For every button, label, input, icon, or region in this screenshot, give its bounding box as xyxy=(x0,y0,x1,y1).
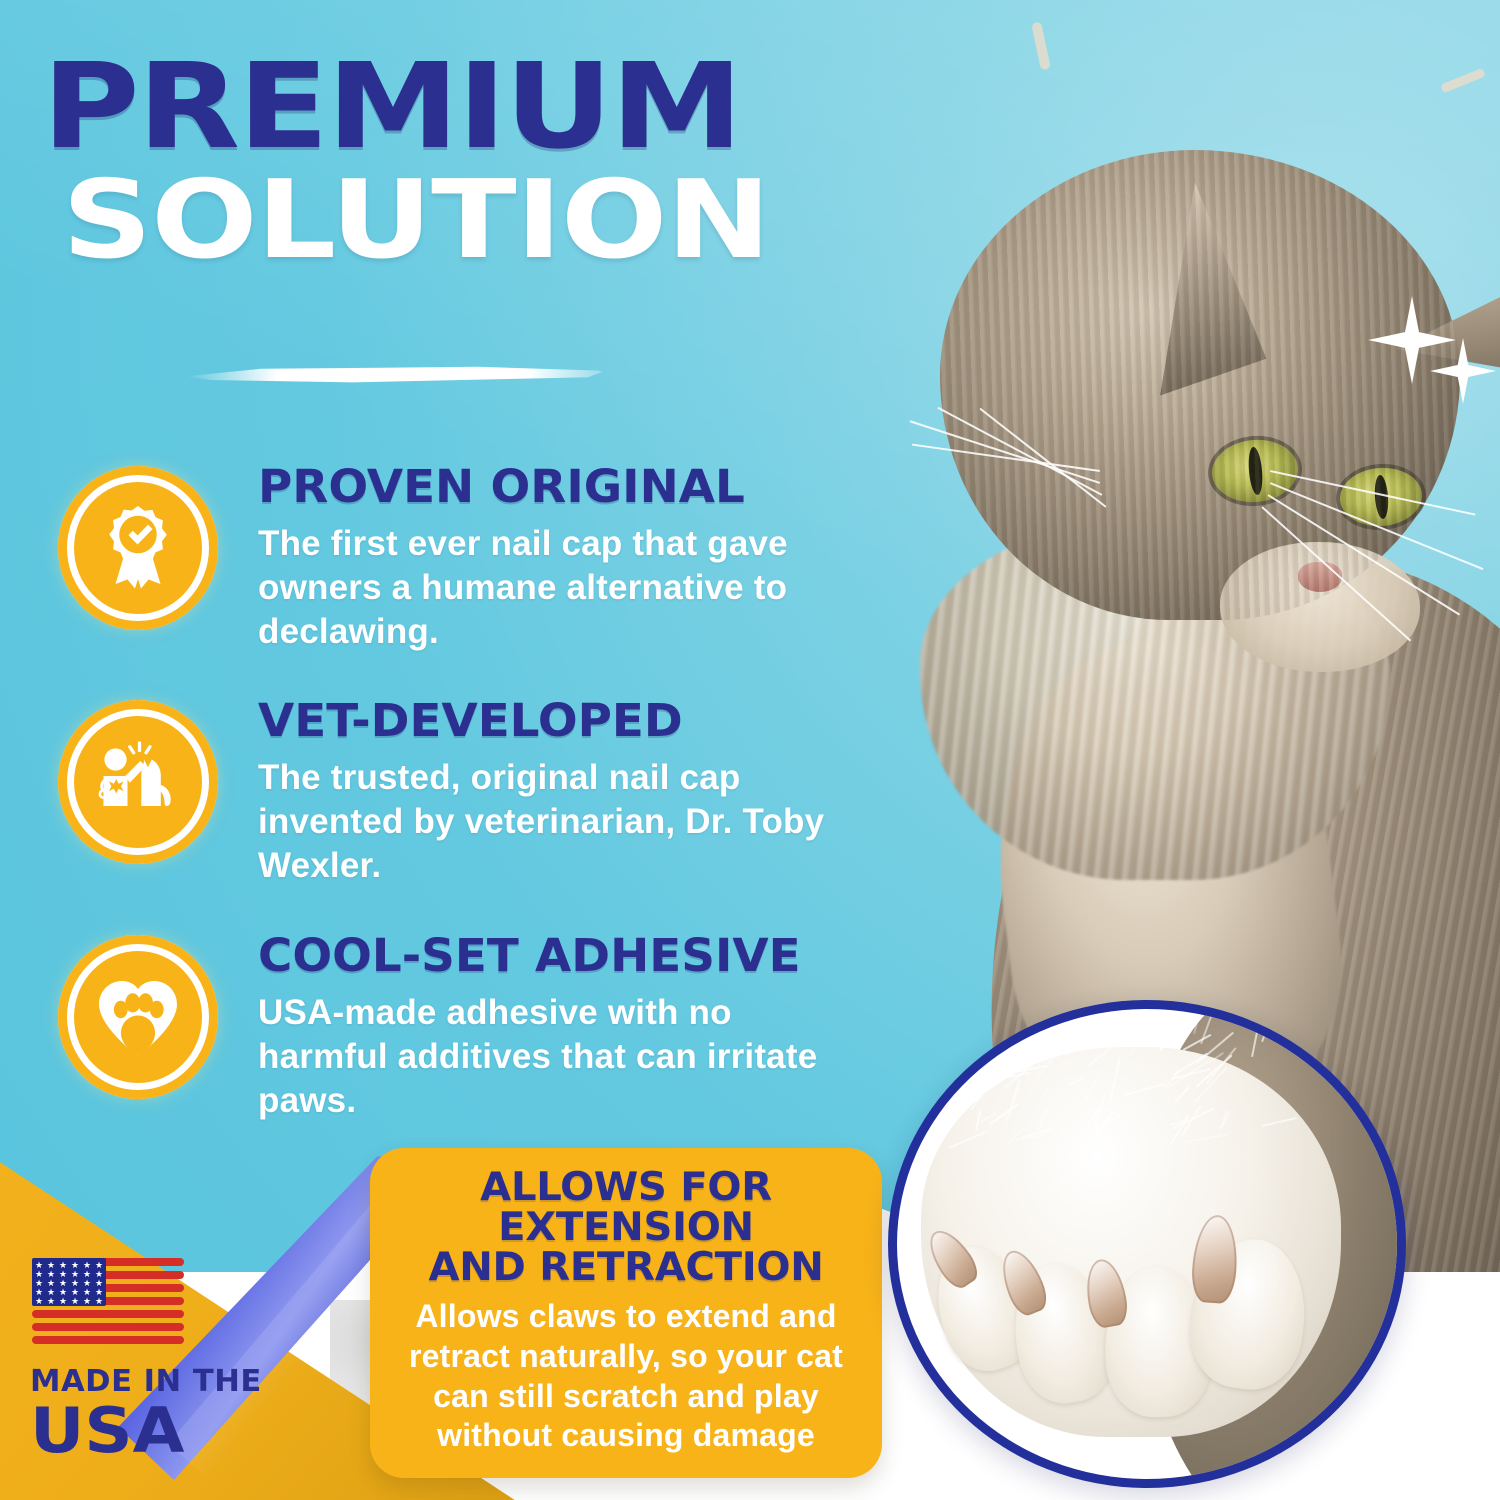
feature-title: PROVEN ORIGINAL xyxy=(258,464,882,509)
product-infographic: PREMIUM SOLUTION PROVEN ORIGINAL The fir… xyxy=(0,0,1500,1500)
award-ribbon-check-icon xyxy=(58,466,218,630)
feature-description: The first ever nail cap that gave owners… xyxy=(258,522,858,654)
cat-ear-left xyxy=(1141,178,1273,396)
callout-title-line1: ALLOWS FOR EXTENSION xyxy=(389,1168,863,1248)
usa-flag-icon: ★★★★★★★★★★★★★★★★★★★★★★★★★★★★★★ xyxy=(32,1258,184,1350)
feature-item-vet-developed: VET-DEVELOPED The trusted, original nail… xyxy=(58,696,858,888)
feature-item-cool-set-adhesive: COOL-SET ADHESIVE USA-made adhesive with… xyxy=(58,931,858,1123)
cat-ear-tuft-right xyxy=(1440,68,1486,94)
cat-eye-right xyxy=(1338,465,1424,529)
feature-description: USA-made adhesive with no harmful additi… xyxy=(258,991,858,1123)
feature-text: COOL-SET ADHESIVE USA-made adhesive with… xyxy=(258,931,858,1123)
cat-ear-tuft-left xyxy=(1031,21,1051,70)
feature-title: COOL-SET ADHESIVE xyxy=(258,933,882,978)
cat-head xyxy=(940,150,1460,620)
feature-text: VET-DEVELOPED The trusted, original nail… xyxy=(258,696,858,888)
feature-item-proven-original: PROVEN ORIGINAL The first ever nail cap … xyxy=(58,462,858,654)
headline-premium: PREMIUM xyxy=(42,52,969,161)
made-in-usa-line2: USA xyxy=(30,1401,294,1461)
feature-title: VET-DEVELOPED xyxy=(258,698,882,743)
callout-title-line2: AND RETRACTION xyxy=(389,1248,863,1288)
headline-solution: SOLUTION xyxy=(62,169,990,273)
cat-eye-left xyxy=(1209,436,1300,505)
vet-high-five-cat-icon xyxy=(58,700,218,864)
feature-list: PROVEN ORIGINAL The first ever nail cap … xyxy=(58,462,858,1165)
cat-pupil-left xyxy=(1247,447,1264,495)
headline-block: PREMIUM SOLUTION xyxy=(42,52,862,272)
usa-flag-canton: ★★★★★★★★★★★★★★★★★★★★★★★★★★★★★★ xyxy=(32,1258,106,1306)
cat-paw-with-nail-caps-closeup xyxy=(888,1000,1406,1488)
heart-paw-icon xyxy=(58,935,218,1099)
made-in-usa-badge: ★★★★★★★★★★★★★★★★★★★★★★★★★★★★★★ MADE IN T… xyxy=(24,1258,274,1461)
feature-description: The trusted, original nail cap invented … xyxy=(258,756,858,888)
callout-description: Allows claws to extend and retract natur… xyxy=(396,1297,856,1456)
extension-retraction-callout: ALLOWS FOR EXTENSION AND RETRACTION Allo… xyxy=(370,1148,882,1478)
cat-muzzle xyxy=(1220,542,1420,672)
feature-text: PROVEN ORIGINAL The first ever nail cap … xyxy=(258,462,858,654)
cat-nose xyxy=(1298,562,1342,592)
